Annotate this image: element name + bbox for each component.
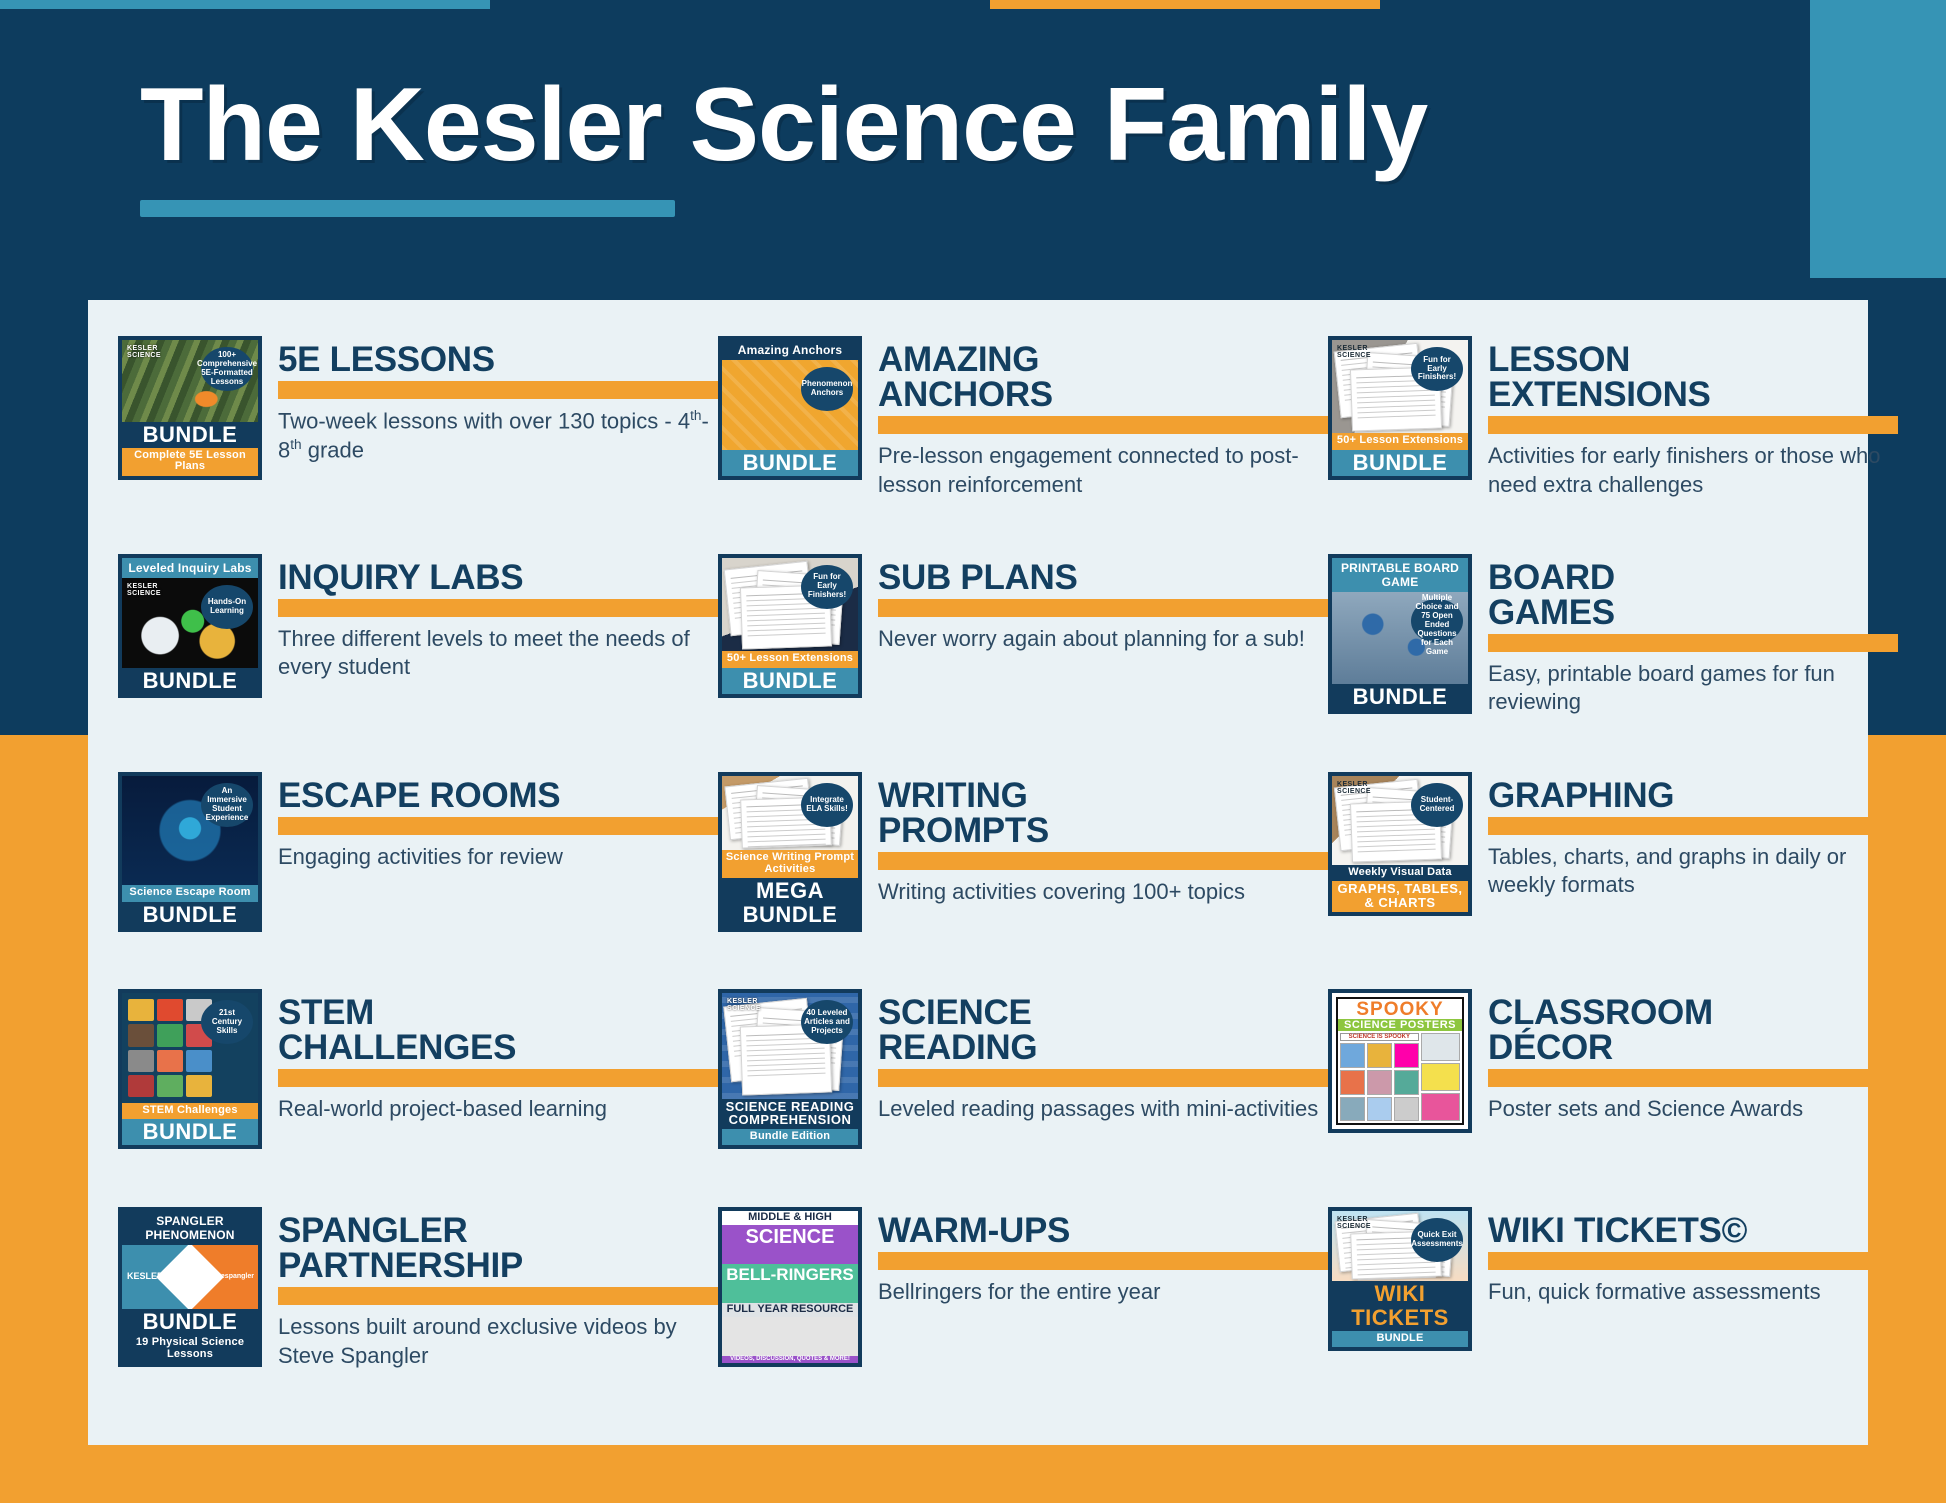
product-text-block: INQUIRY LABSThree different levels to me… bbox=[278, 554, 718, 682]
thumbnail-artwork: An Immersive Student Experience bbox=[122, 776, 258, 885]
thumbnail-subcaption: 50+ Lesson Extensions bbox=[1332, 433, 1468, 450]
thumbnail-caption: BUNDLE bbox=[122, 668, 258, 694]
title-accent-bar bbox=[278, 599, 718, 617]
product-item-graphing[interactable]: KESLER SCIENCEStudent-CenteredWeekly Vis… bbox=[1328, 772, 1898, 990]
thumbnail-subcaption: BUNDLE bbox=[1332, 1331, 1468, 1348]
products-grid: KESLER SCIENCE100+ Comprehensive 5E-Form… bbox=[118, 336, 1838, 1425]
thumbnail-artwork: SPOOKYSCIENCE POSTERSSCIENCE IS SPOOKY bbox=[1332, 993, 1468, 1129]
product-description-stem-challenges: Real-world project-based learning bbox=[278, 1095, 718, 1124]
thumbnail-artwork: 21st Century Skills bbox=[122, 993, 258, 1102]
poster-thumb bbox=[1340, 1043, 1365, 1068]
thumbnail-artwork: KESLER SCIENCEQuick Exit Assessments bbox=[1332, 1211, 1468, 1281]
product-description-sub-plans: Never worry again about planning for a s… bbox=[878, 625, 1328, 654]
thumbnail-artwork: KESLER SCIENCE100+ Comprehensive 5E-Form… bbox=[122, 340, 258, 422]
poster-preview: SPOOKYSCIENCE POSTERSSCIENCE IS SPOOKY bbox=[1336, 997, 1464, 1125]
thumbnail-subcaption: Science Writing Prompt Activities bbox=[722, 850, 858, 878]
product-description-board-games: Easy, printable board games for fun revi… bbox=[1488, 660, 1898, 717]
thumbnail-badge: Fun for Early Finishers! bbox=[1411, 347, 1463, 391]
title-accent-bar bbox=[878, 416, 1328, 434]
kesler-science-logo: KESLER SCIENCE bbox=[1337, 1216, 1383, 1230]
thumbnail-artwork: KESLER SCIENCE40 Leveled Articles and Pr… bbox=[722, 993, 858, 1098]
product-item-warm-ups[interactable]: MIDDLE & HIGHSCIENCEBELL-RINGERSFULL YEA… bbox=[718, 1207, 1328, 1425]
top-strip-segment-0 bbox=[0, 0, 490, 9]
product-description-graphing: Tables, charts, and graphs in daily or w… bbox=[1488, 843, 1898, 900]
bellringer-thumbs bbox=[722, 1317, 858, 1356]
product-title-sub-plans: SUB PLANS bbox=[878, 560, 1328, 595]
title-accent-bar bbox=[1488, 416, 1898, 434]
thumbnail-top-caption: Amazing Anchors bbox=[722, 340, 858, 360]
thumbnail-top-caption: Leveled Inquiry Labs bbox=[122, 558, 258, 578]
product-thumbnail-writing-prompts[interactable]: Integrate ELA Skills!Science Writing Pro… bbox=[718, 772, 862, 932]
thumbnail-badge: 100+ Comprehensive 5E-Formatted Lessons bbox=[201, 347, 253, 391]
product-thumbnail-lesson-extensions[interactable]: KESLER SCIENCEFun for Early Finishers!50… bbox=[1328, 336, 1472, 480]
thumbnail-artwork: Integrate ELA Skills! bbox=[722, 776, 858, 851]
poster-title: SPOOKY bbox=[1338, 999, 1462, 1019]
spangler-brand-label: stevespangler bbox=[207, 1273, 254, 1280]
title-accent-bar bbox=[1488, 1069, 1898, 1087]
product-item-sub-plans[interactable]: Fun for Early Finishers!50+ Lesson Exten… bbox=[718, 554, 1328, 772]
thumbnail-artwork: Includes 75 Multiple Choice and 75 Open … bbox=[1332, 592, 1468, 684]
product-description-inquiry-labs: Three different levels to meet the needs… bbox=[278, 625, 718, 682]
product-item-5e-lessons[interactable]: KESLER SCIENCE100+ Comprehensive 5E-Form… bbox=[118, 336, 718, 554]
product-text-block: ESCAPE ROOMSEngaging activities for revi… bbox=[278, 772, 718, 872]
thumbnail-subcaption: STEM Challenges bbox=[122, 1103, 258, 1120]
thumbnail-caption: BUNDLE bbox=[122, 1119, 258, 1145]
product-text-block: WARM-UPSBellringers for the entire year bbox=[878, 1207, 1328, 1307]
thumbnail-artwork: KESLER SCIENCEFun for Early Finishers! bbox=[1332, 340, 1468, 433]
product-title-classroom-decor: CLASSROOM DÉCOR bbox=[1488, 995, 1898, 1065]
top-strip-segment-3 bbox=[1380, 0, 1810, 9]
product-text-block: LESSON EXTENSIONSActivities for early fi… bbox=[1488, 336, 1898, 499]
kesler-science-logo: KESLER SCIENCE bbox=[727, 998, 773, 1012]
thumbnail-artwork: MIDDLE & HIGHSCIENCEBELL-RINGERSFULL YEA… bbox=[722, 1211, 858, 1363]
bellringer-cover: MIDDLE & HIGHSCIENCEBELL-RINGERSFULL YEA… bbox=[722, 1211, 858, 1363]
product-description-amazing-anchors: Pre-lesson engagement connected to post-… bbox=[878, 442, 1328, 499]
title-accent-bar bbox=[878, 1252, 1328, 1270]
thumbnail-badge: Quick Exit Assessments bbox=[1411, 1218, 1463, 1262]
product-title-warm-ups: WARM-UPS bbox=[878, 1213, 1328, 1248]
thumbnail-subcaption: Complete 5E Lesson Plans bbox=[122, 448, 258, 476]
thumbnail-badge: Includes 75 Multiple Choice and 75 Open … bbox=[1411, 599, 1463, 643]
thumbnail-subcaption: Weekly Visual Data bbox=[1332, 865, 1468, 882]
thumbnail-artwork: KESLER SCIENCEStudent-Centered bbox=[1332, 776, 1468, 865]
kesler-science-logo: KESLER SCIENCE bbox=[1337, 345, 1383, 359]
thumbnail-subcaption: 50+ Lesson Extensions bbox=[722, 651, 858, 668]
product-item-amazing-anchors[interactable]: Amazing AnchorsPhenomenon AnchorsBUNDLEA… bbox=[718, 336, 1328, 554]
product-thumbnail-escape-rooms[interactable]: An Immersive Student ExperienceScience E… bbox=[118, 772, 262, 932]
title-block: The Kesler Science Family bbox=[140, 72, 1800, 217]
title-accent-bar bbox=[1488, 1252, 1898, 1270]
poster-thumb bbox=[1340, 1097, 1365, 1122]
poster-thumb bbox=[1394, 1043, 1419, 1068]
product-text-block: SUB PLANSNever worry again about plannin… bbox=[878, 554, 1328, 654]
thumbnail-caption: BUNDLE bbox=[1332, 450, 1468, 476]
thumbnail-badge: Hands-On Learning bbox=[201, 585, 253, 629]
kesler-brand-label: KESLER SCIENCE bbox=[127, 1272, 206, 1281]
thumbnail-caption: GRAPHS, TABLES, & CHARTS bbox=[1332, 881, 1468, 911]
page-title: The Kesler Science Family bbox=[140, 72, 1800, 178]
poster-thumb bbox=[1421, 1063, 1460, 1091]
kesler-science-logo: KESLER SCIENCE bbox=[127, 345, 173, 359]
thumbnail-caption: BUNDLE bbox=[722, 668, 858, 694]
bellringer-line-5: VIDEOS, DISCUSSION, QUOTES & MORE! bbox=[722, 1356, 858, 1364]
product-thumbnail-sub-plans[interactable]: Fun for Early Finishers!50+ Lesson Exten… bbox=[718, 554, 862, 698]
product-text-block: GRAPHINGTables, charts, and graphs in da… bbox=[1488, 772, 1898, 900]
poster-subtitle: SCIENCE POSTERS bbox=[1338, 1019, 1462, 1031]
product-title-lesson-extensions: LESSON EXTENSIONS bbox=[1488, 342, 1898, 412]
product-text-block: CLASSROOM DÉCORPoster sets and Science A… bbox=[1488, 989, 1898, 1124]
product-item-escape-rooms[interactable]: An Immersive Student ExperienceScience E… bbox=[118, 772, 718, 990]
product-text-block: 5E LESSONSTwo-week lessons with over 130… bbox=[278, 336, 718, 465]
thumbnail-badge: Integrate ELA Skills! bbox=[801, 783, 853, 827]
product-item-board-games[interactable]: PRINTABLE BOARD GAMEIncludes 75 Multiple… bbox=[1328, 554, 1898, 772]
poster-thumb-grid: SCIENCE IS SPOOKY bbox=[1338, 1031, 1462, 1123]
product-description-writing-prompts: Writing activities covering 100+ topics bbox=[878, 878, 1328, 907]
top-strip-segment-2 bbox=[990, 0, 1380, 9]
thumbnail-badge: An Immersive Student Experience bbox=[201, 783, 253, 827]
product-title-inquiry-labs: INQUIRY LABS bbox=[278, 560, 718, 595]
product-thumbnail-classroom-decor[interactable]: SPOOKYSCIENCE POSTERSSCIENCE IS SPOOKY bbox=[1328, 989, 1472, 1133]
thumbnail-artwork: Phenomenon Anchors bbox=[722, 360, 858, 450]
product-text-block: WRITING PROMPTSWriting activities coveri… bbox=[878, 772, 1328, 907]
title-accent-bar bbox=[278, 1069, 718, 1087]
thumbnail-artwork: Fun for Early Finishers! bbox=[722, 558, 858, 651]
kesler-science-logo: KESLER SCIENCE bbox=[1337, 781, 1383, 795]
product-description-warm-ups: Bellringers for the entire year bbox=[878, 1278, 1328, 1307]
product-description-classroom-decor: Poster sets and Science Awards bbox=[1488, 1095, 1898, 1124]
top-strip-segment-1 bbox=[490, 0, 990, 9]
product-text-block: SCIENCE READINGLeveled reading passages … bbox=[878, 989, 1328, 1124]
product-item-spangler-partnership[interactable]: SPANGLER PHENOMENONKESLER SCIENCEstevesp… bbox=[118, 1207, 718, 1425]
poster-thumb bbox=[1367, 1043, 1392, 1068]
title-accent-bar bbox=[278, 817, 718, 835]
thumbnail-badge: Student-Centered bbox=[1411, 783, 1463, 827]
thumbnail-caption: BUNDLE bbox=[122, 902, 258, 928]
thumbnail-caption: BUNDLE bbox=[122, 1309, 258, 1335]
product-item-stem-challenges[interactable]: 21st Century SkillsSTEM ChallengesBUNDLE… bbox=[118, 989, 718, 1207]
title-accent-bar bbox=[1488, 817, 1898, 835]
product-title-board-games: BOARD GAMES bbox=[1488, 560, 1898, 630]
thumbnail-subcaption: Bundle Edition bbox=[722, 1129, 858, 1146]
poster-thumb bbox=[1367, 1097, 1392, 1122]
product-item-classroom-decor[interactable]: SPOOKYSCIENCE POSTERSSCIENCE IS SPOOKYCL… bbox=[1328, 989, 1898, 1207]
product-item-lesson-extensions[interactable]: KESLER SCIENCEFun for Early Finishers!50… bbox=[1328, 336, 1898, 554]
product-item-wiki-tickets[interactable]: KESLER SCIENCEQuick Exit AssessmentsWIKI… bbox=[1328, 1207, 1898, 1425]
bellringer-line-2: SCIENCE bbox=[722, 1225, 858, 1264]
product-description-wiki-tickets: Fun, quick formative assessments bbox=[1488, 1278, 1898, 1307]
product-description-science-reading: Leveled reading passages with mini-activ… bbox=[878, 1095, 1328, 1124]
top-color-strip bbox=[0, 0, 1946, 9]
thumbnail-caption: BUNDLE bbox=[122, 422, 258, 448]
title-accent-bar bbox=[878, 599, 1328, 617]
title-accent-bar bbox=[878, 1069, 1328, 1087]
thumbnail-badge: 21st Century Skills bbox=[201, 1000, 253, 1044]
product-title-stem-challenges: STEM CHALLENGES bbox=[278, 995, 718, 1065]
poster-thumb bbox=[1340, 1070, 1365, 1095]
thumbnail-top-caption: PRINTABLE BOARD GAME bbox=[1332, 558, 1468, 592]
product-item-writing-prompts[interactable]: Integrate ELA Skills!Science Writing Pro… bbox=[718, 772, 1328, 990]
bellringer-line-3: BELL-RINGERS bbox=[722, 1264, 858, 1303]
title-underline-rule bbox=[140, 200, 675, 217]
poster-thumb bbox=[1394, 1070, 1419, 1095]
top-strip-segment-4 bbox=[1810, 0, 1946, 9]
product-text-block: AMAZING ANCHORSPre-lesson engagement con… bbox=[878, 336, 1328, 499]
product-title-wiki-tickets: WIKI TICKETS© bbox=[1488, 1213, 1898, 1248]
product-item-science-reading[interactable]: KESLER SCIENCE40 Leveled Articles and Pr… bbox=[718, 989, 1328, 1207]
product-text-block: WIKI TICKETS©Fun, quick formative assess… bbox=[1488, 1207, 1898, 1307]
thumbnail-caption: SCIENCE READING COMPREHENSION bbox=[722, 1099, 858, 1129]
thumbnail-caption: BUNDLE bbox=[1332, 684, 1468, 710]
product-item-inquiry-labs[interactable]: Leveled Inquiry LabsKESLER SCIENCEHands-… bbox=[118, 554, 718, 772]
thumbnail-caption: BUNDLE bbox=[722, 450, 858, 476]
poster-banner: SCIENCE IS SPOOKY bbox=[1340, 1033, 1419, 1041]
product-text-block: STEM CHALLENGESReal-world project-based … bbox=[278, 989, 718, 1124]
background-teal-accent bbox=[1810, 0, 1946, 278]
product-thumbnail-amazing-anchors[interactable]: Amazing AnchorsPhenomenon AnchorsBUNDLE bbox=[718, 336, 862, 480]
product-thumbnail-warm-ups[interactable]: MIDDLE & HIGHSCIENCEBELL-RINGERSFULL YEA… bbox=[718, 1207, 862, 1367]
product-description-escape-rooms: Engaging activities for review bbox=[278, 843, 718, 872]
product-title-5e-lessons: 5E LESSONS bbox=[278, 342, 718, 377]
product-thumbnail-5e-lessons[interactable]: KESLER SCIENCE100+ Comprehensive 5E-Form… bbox=[118, 336, 262, 480]
product-description-lesson-extensions: Activities for early finishers or those … bbox=[1488, 442, 1898, 499]
thumbnail-badge: Fun for Early Finishers! bbox=[801, 565, 853, 609]
poster-thumb bbox=[1367, 1070, 1392, 1095]
title-accent-bar bbox=[278, 1287, 718, 1305]
product-thumbnail-stem-challenges[interactable]: 21st Century SkillsSTEM ChallengesBUNDLE bbox=[118, 989, 262, 1149]
thumbnail-artwork: KESLER SCIENCEHands-On Learning bbox=[122, 578, 258, 668]
product-text-block: SPANGLER PARTNERSHIPLessons built around… bbox=[278, 1207, 718, 1370]
product-title-science-reading: SCIENCE READING bbox=[878, 995, 1328, 1065]
product-thumbnail-graphing[interactable]: KESLER SCIENCEStudent-CenteredWeekly Vis… bbox=[1328, 772, 1472, 916]
bellringer-line-4: FULL YEAR RESOURCE bbox=[722, 1303, 858, 1317]
title-accent-bar bbox=[878, 852, 1328, 870]
poster-thumb bbox=[1421, 1033, 1460, 1061]
product-thumbnail-inquiry-labs[interactable]: Leveled Inquiry LabsKESLER SCIENCEHands-… bbox=[118, 554, 262, 698]
title-accent-bar bbox=[1488, 634, 1898, 652]
product-thumbnail-science-reading[interactable]: KESLER SCIENCE40 Leveled Articles and Pr… bbox=[718, 989, 862, 1149]
poster-thumb bbox=[1421, 1093, 1460, 1121]
product-description-spangler-partnership: Lessons built around exclusive videos by… bbox=[278, 1313, 718, 1370]
product-description-5e-lessons: Two-week lessons with over 130 topics - … bbox=[278, 407, 718, 465]
thumbnail-caption: WIKI TICKETS bbox=[1332, 1281, 1468, 1330]
thumbnail-top-caption: SPANGLER PHENOMENON bbox=[122, 1211, 258, 1245]
title-accent-bar bbox=[278, 381, 718, 399]
products-panel: KESLER SCIENCE100+ Comprehensive 5E-Form… bbox=[88, 300, 1868, 1445]
bellringer-line-1: MIDDLE & HIGH bbox=[722, 1211, 858, 1225]
product-title-writing-prompts: WRITING PROMPTS bbox=[878, 778, 1328, 848]
product-title-graphing: GRAPHING bbox=[1488, 778, 1898, 813]
product-title-escape-rooms: ESCAPE ROOMS bbox=[278, 778, 718, 813]
thumbnail-subcaption: 19 Physical Science Lessons bbox=[122, 1335, 258, 1363]
thumbnail-caption: MEGA BUNDLE bbox=[722, 878, 858, 927]
product-thumbnail-wiki-tickets[interactable]: KESLER SCIENCEQuick Exit AssessmentsWIKI… bbox=[1328, 1207, 1472, 1351]
poster-thumb bbox=[1394, 1097, 1419, 1122]
thumbnail-subcaption: Science Escape Room bbox=[122, 885, 258, 902]
product-thumbnail-spangler-partnership[interactable]: SPANGLER PHENOMENONKESLER SCIENCEstevesp… bbox=[118, 1207, 262, 1367]
thumbnail-artwork: KESLER SCIENCEstevespangler bbox=[122, 1245, 258, 1309]
thumbnail-badge: Phenomenon Anchors bbox=[801, 367, 853, 411]
kesler-science-logo: KESLER SCIENCE bbox=[127, 583, 173, 597]
product-title-spangler-partnership: SPANGLER PARTNERSHIP bbox=[278, 1213, 718, 1283]
product-text-block: BOARD GAMESEasy, printable board games f… bbox=[1488, 554, 1898, 717]
product-thumbnail-board-games[interactable]: PRINTABLE BOARD GAMEIncludes 75 Multiple… bbox=[1328, 554, 1472, 714]
product-title-amazing-anchors: AMAZING ANCHORS bbox=[878, 342, 1328, 412]
stem-icon-grid bbox=[128, 999, 212, 1096]
